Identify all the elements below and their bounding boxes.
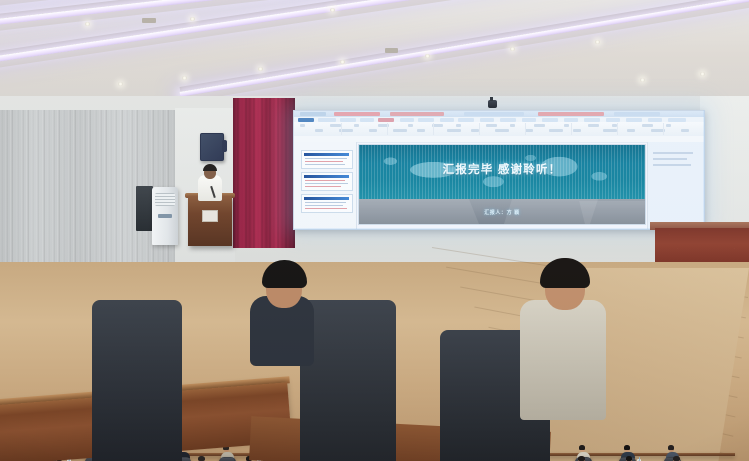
ribbon-tab [522,118,536,122]
foreground-chair [300,300,396,461]
ribbon-button [588,124,599,127]
ceiling-downlight [118,82,123,86]
slide-thumbnail-pane[interactable] [294,142,357,229]
ceiling-vent [385,48,398,53]
ceiling-downlight [510,47,515,51]
ribbon-tab [668,118,686,122]
ceiling-downlight [330,8,335,12]
ribbon-tab [584,118,600,122]
ppt-ribbon [294,122,704,137]
presenter-hair [203,164,217,171]
ribbon-button [564,124,569,127]
ribbon-group-divider [478,123,480,135]
ribbon-button [369,129,377,132]
ribbon-group-divider [432,123,434,135]
slide-thumbnail[interactable] [301,194,353,213]
ribbon-button [408,124,413,127]
ribbon-tab [480,118,494,122]
wall-speaker-icon [200,133,224,161]
ribbon-group-divider [524,123,526,135]
ribbon-button [534,124,545,127]
ceiling-downlight [595,40,600,44]
ribbon-button [495,129,509,132]
ribbon-tab [378,118,394,122]
titlebar-chip [390,112,444,116]
ribbon-button [627,129,635,132]
ribbon-tab [360,118,374,122]
ribbon-button [510,124,515,127]
ribbon-group-divider [386,123,388,135]
slide-presenter-label: 汇报人：方 颖 [359,209,645,216]
slide-title: 汇报完毕 感谢聆听！ [359,161,645,177]
ribbon-button [456,124,461,127]
ceiling-vent [142,18,156,23]
ribbon-button [549,129,563,132]
presentation-screen[interactable]: 汇报完毕 感谢聆听！ 汇报人：方 颖 [293,110,705,230]
titlebar-chip [538,112,604,116]
ribbon-button [354,124,359,127]
ceiling-downlight [258,67,263,71]
ribbon-button [393,129,407,132]
ribbon-tab [418,118,434,122]
ceiling-downlight [85,22,90,26]
lectern-nameplate [202,210,218,222]
ribbon-button [300,124,305,127]
ribbon-group-divider [570,123,572,135]
ribbon-tab [458,118,474,122]
ac-grille-icon [155,193,175,206]
ceiling-camera-icon [488,100,497,108]
slide-thumbnail[interactable] [301,172,353,191]
ribbon-tab [440,118,454,122]
ribbon-tab [500,118,516,122]
titlebar-chip [614,112,660,116]
ribbon-group-divider [340,123,342,135]
ribbon-button [525,129,533,132]
slide-lower-band: 汇报人：方 颖 [359,199,645,224]
ribbon-tab [648,118,662,122]
ribbon-tab [626,118,642,122]
titlebar-chip [334,112,380,116]
ribbon-tab [564,118,578,122]
ribbon-group-divider [662,123,664,135]
ceiling-downlight [700,72,705,76]
ribbon-tab [340,118,356,122]
foreground-chair [92,300,182,461]
ribbon-button [486,124,497,127]
current-slide: 汇报完毕 感谢聆听！ 汇报人：方 颖 [358,144,646,225]
titlebar-chip [300,112,326,116]
ceiling-downlight [190,17,195,21]
ribbon-button [642,124,653,127]
ac-badge [158,214,172,218]
ribbon-tab [606,118,620,122]
ceiling-downlight [425,54,430,58]
ceiling-downlight [182,76,187,80]
ribbon-button [573,129,581,132]
conference-hall-photo: 汇报完毕 感谢聆听！ 汇报人：方 颖 [0,0,749,461]
ribbon-tab [318,118,336,122]
ribbon-group-divider [616,123,618,135]
ribbon-tab [400,118,414,122]
slide-thumbnail[interactable] [301,150,353,169]
ceiling-downlight [640,78,645,82]
ribbon-button [666,124,671,127]
notes-pane [647,142,704,229]
foreground-attendee-body [520,300,606,420]
ribbon-button [417,129,425,132]
ribbon-button [447,129,461,132]
titlebar-chip [464,112,524,116]
slide-upper-band: 汇报完毕 感谢聆听！ [359,145,645,199]
ribbon-button [315,129,323,132]
ribbon-tab [542,118,558,122]
ribbon-button [681,129,689,132]
ribbon-tab [298,118,314,122]
ceiling-downlight [340,60,345,64]
ribbon-button [603,129,617,132]
